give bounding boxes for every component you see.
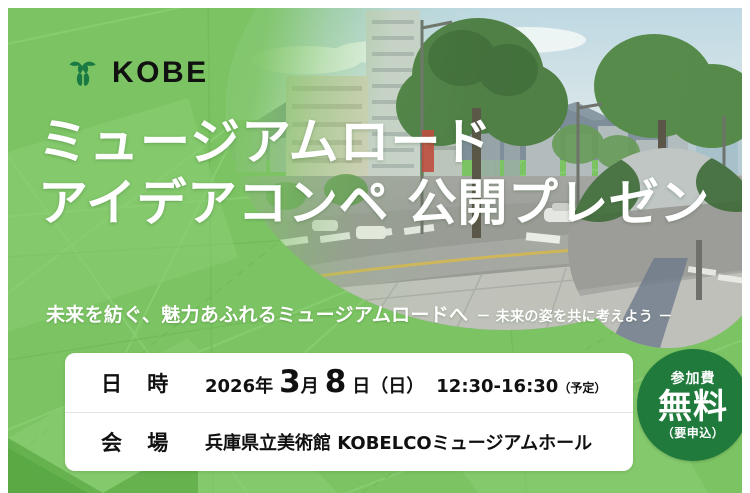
info-label-venue: 会 場 [101, 427, 205, 457]
badge-top-label: 参加費 [671, 372, 716, 386]
date-year: 2026年 [205, 372, 273, 398]
event-banner: KOBE ミュージアムロード アイデアコンペ 公開プレゼン 未来を紡ぐ、魅力あふ… [0, 0, 750, 493]
headline-line-2: アイデアコンペ 公開プレゼン [38, 173, 738, 234]
info-row-venue: 会 場 兵庫県立美術館 KOBELCOミュージアムホール [65, 412, 633, 471]
date-day-unit: 日（日） [352, 372, 424, 398]
event-time-note: （予定） [558, 379, 606, 396]
badge-main-label: 無料 [658, 390, 728, 424]
event-info-box: 日 時 2026年 3 月 8 日（日） 12:30-16:30 （予定） 会 … [65, 353, 633, 471]
date-month-unit: 月 [301, 372, 319, 398]
green-background-card: KOBE ミュージアムロード アイデアコンペ 公開プレゼン 未来を紡ぐ、魅力あふ… [8, 8, 742, 493]
headline-line-1: ミュージアムロード [38, 112, 738, 173]
info-value-venue: 兵庫県立美術館 KOBELCOミュージアムホール [205, 429, 592, 455]
logo-text: KOBE [112, 58, 209, 88]
info-value-datetime: 2026年 3 月 8 日（日） 12:30-16:30 （予定） [205, 367, 606, 398]
date-month-number: 3 [279, 367, 301, 398]
event-time: 12:30-16:30 [436, 376, 558, 397]
kobe-city-emblem-icon [66, 56, 100, 90]
info-row-datetime: 日 時 2026年 3 月 8 日（日） 12:30-16:30 （予定） [65, 353, 633, 412]
info-label-datetime: 日 時 [101, 368, 205, 398]
subtitle: 未来を紡ぐ、魅力あふれるミュージアムロードへ － 未来の姿を共に考えよう － [46, 300, 673, 327]
subtitle-main: 未来を紡ぐ、魅力あふれるミュージアムロードへ [46, 300, 468, 327]
headline: ミュージアムロード アイデアコンペ 公開プレゼン [38, 112, 738, 234]
badge-note-label: （要申込） [662, 427, 725, 439]
date-day-number: 8 [325, 367, 347, 398]
participation-fee-badge: 参加費 無料 （要申込） [637, 349, 742, 461]
subtitle-tail: － 未来の姿を共に考えよう － [476, 306, 672, 326]
kobe-logo: KOBE [66, 56, 209, 90]
